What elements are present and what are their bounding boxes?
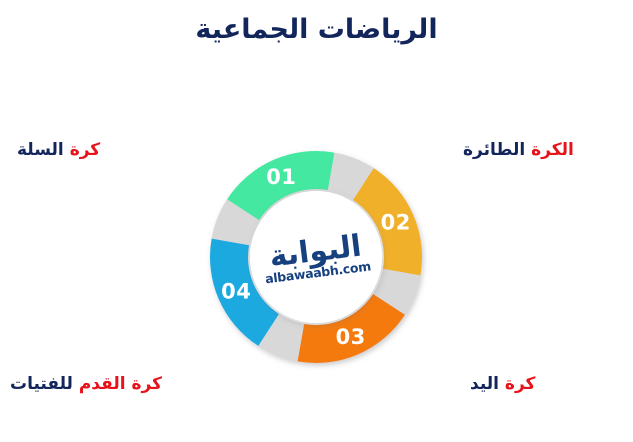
segment-label-02-primary: كرة [505,374,536,394]
infographic-canvas: الرياضات الجماعية 01020304 البوابة albaw… [0,0,633,442]
segment-number-04: 04 [221,280,251,304]
segment-label-04: كرة السلة [17,140,192,160]
segment-label-04-primary: كرة [70,140,101,160]
segment-number-03: 03 [336,325,366,349]
segment-label-02: كرة اليد [470,374,535,394]
segment-label-02-secondary: اليد [470,374,499,394]
segment-label-01-secondary: الطائرة [463,140,525,160]
segment-label-04-secondary: السلة [17,140,64,160]
segment-number-01: 01 [266,165,296,189]
segment-number-02: 02 [381,210,411,234]
segment-label-03-primary: كرة القدم [79,374,162,394]
segment-label-01: الكرة الطائرة [463,140,574,160]
segment-label-01-primary: الكرة [531,140,574,160]
brand-logo: البوابة albawaabh.com [250,191,382,323]
segment-label-03: كرة القدم للفتيات [10,374,195,394]
segment-label-03-secondary: للفتيات [10,374,73,394]
page-title: الرياضات الجماعية [0,14,633,45]
donut-chart: 01020304 البوابة albawaabh.com [204,145,428,369]
